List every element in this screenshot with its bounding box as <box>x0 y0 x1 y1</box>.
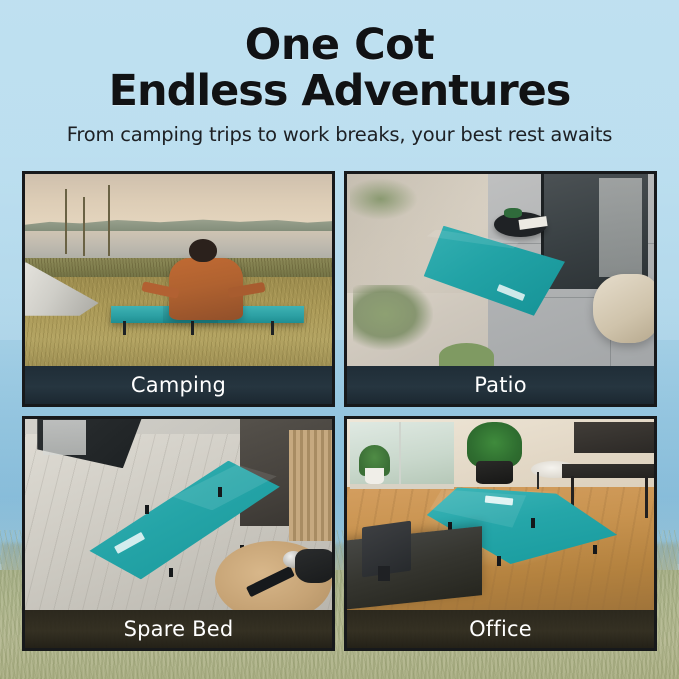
camping-tree <box>83 197 85 256</box>
office-cot-leg <box>531 518 535 528</box>
patio-potted-plant <box>504 208 522 218</box>
panel-office[interactable]: Office <box>344 416 657 652</box>
spare-bed-cot-leg <box>218 487 222 497</box>
patio-caption: Patio <box>347 366 654 404</box>
infographic-canvas: One Cot Endless Adventures From camping … <box>0 0 679 679</box>
header: One Cot Endless Adventures From camping … <box>0 0 679 168</box>
patio-rattan-chair <box>593 274 654 343</box>
office-monitor-stand <box>378 566 390 581</box>
office-cot-leg <box>497 556 501 566</box>
camping-caption-label: Camping <box>131 373 226 397</box>
camping-caption: Camping <box>25 366 332 404</box>
title-line-1: One Cot <box>245 20 434 70</box>
camping-photo <box>25 174 332 366</box>
spare-bed-door-glass <box>43 420 86 454</box>
spare-bed-caption: Spare Bed <box>25 610 332 648</box>
camping-person-head <box>189 239 217 262</box>
spare-bed-vase <box>295 549 332 583</box>
use-case-grid: Camping <box>22 171 657 651</box>
camping-cot-leg <box>123 321 126 334</box>
camping-tree <box>65 189 67 254</box>
office-shelf <box>574 422 654 453</box>
page-subtitle: From camping trips to work breaks, your … <box>0 123 679 146</box>
office-cot-leg <box>593 545 597 555</box>
office-window-mullion <box>399 422 401 483</box>
page-title: One Cot Endless Adventures <box>0 0 679 114</box>
camping-cot-leg <box>191 321 194 334</box>
panel-spare-bed[interactable]: Spare Bed <box>22 416 335 652</box>
office-floor-planter <box>476 461 513 484</box>
office-caption-label: Office <box>469 617 532 641</box>
patio-foreground-leaf <box>439 343 494 366</box>
patio-shrub <box>353 285 433 350</box>
patio-door-glass <box>599 178 642 278</box>
spare-bed-wood-slats <box>289 430 332 541</box>
office-photo <box>347 419 654 611</box>
spare-bed-cot-leg <box>169 568 173 578</box>
title-line-2: Endless Adventures <box>0 68 679 114</box>
office-stool-leg <box>537 472 539 489</box>
camping-tree <box>108 185 110 256</box>
office-caption: Office <box>347 610 654 648</box>
office-window-pot <box>365 468 383 483</box>
patio-caption-label: Patio <box>474 373 527 397</box>
spare-bed-caption-label: Spare Bed <box>124 617 234 641</box>
patio-photo <box>347 174 654 366</box>
panel-camping[interactable]: Camping <box>22 171 335 407</box>
spare-bed-photo <box>25 419 332 611</box>
camping-cot-leg <box>271 321 274 334</box>
office-desk <box>562 464 654 477</box>
office-desk-leg <box>645 476 648 518</box>
patio-shrub <box>350 178 418 220</box>
panel-patio[interactable]: Patio <box>344 171 657 407</box>
spare-bed-cot-leg <box>145 505 149 515</box>
